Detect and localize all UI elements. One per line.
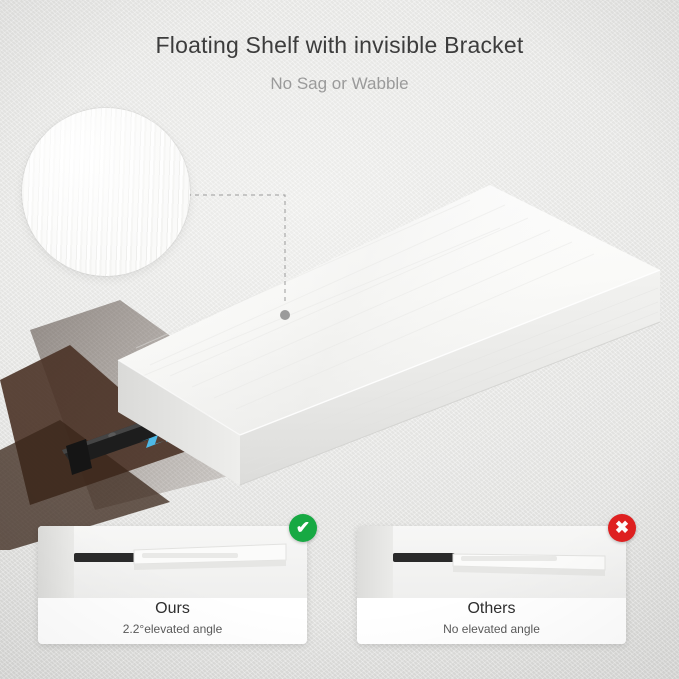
card-sub-others: No elevated angle xyxy=(357,622,626,636)
callout-dot xyxy=(280,310,290,320)
card-photo-others xyxy=(357,526,626,598)
card-sub-ours: 2.2°elevated angle xyxy=(38,622,307,636)
check-mark-icon: ✔ xyxy=(289,514,317,542)
wood-grain-zoom-circle xyxy=(22,108,190,276)
page-subtitle: No Sag or Wabble xyxy=(0,74,679,94)
page-title: Floating Shelf with invisible Bracket xyxy=(0,32,679,59)
card-inner-ours: Ours 2.2°elevated angle xyxy=(38,526,307,644)
card-inner-others: Others No elevated angle xyxy=(357,526,626,644)
card-label-others: Others xyxy=(357,600,626,618)
comparison-cards: Ours 2.2°elevated angle ✔ Others No elev… xyxy=(0,526,679,651)
product-image-stage: Floating Shelf with invisible Bracket No… xyxy=(0,0,679,679)
card-label-ours: Ours xyxy=(38,600,307,618)
card-photo-ours xyxy=(38,526,307,598)
card-shelf-ours xyxy=(38,526,307,598)
cross-mark-icon: ✖ xyxy=(608,514,636,542)
card-shelf-others xyxy=(357,526,626,598)
comparison-card-others: Others No elevated angle ✖ xyxy=(357,526,626,644)
comparison-card-ours: Ours 2.2°elevated angle ✔ xyxy=(38,526,307,644)
